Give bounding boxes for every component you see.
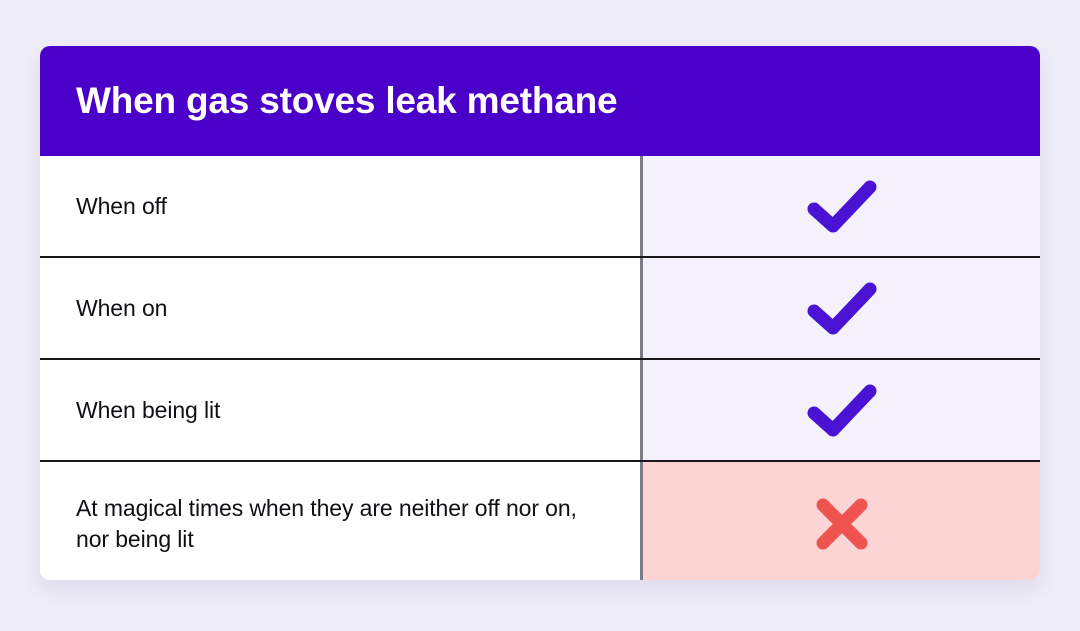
table-row: When off xyxy=(40,156,1040,256)
row-label-cell: When on xyxy=(40,258,643,358)
check-icon xyxy=(806,382,878,438)
row-label-cell: When off xyxy=(40,156,643,256)
table-row: When on xyxy=(40,256,1040,358)
table-row: When being lit xyxy=(40,358,1040,460)
row-status-cell xyxy=(643,462,1040,580)
check-icon xyxy=(806,280,878,336)
row-label-cell: When being lit xyxy=(40,360,643,460)
row-status-cell xyxy=(643,258,1040,358)
page-canvas: When gas stoves leak methane When off Wh… xyxy=(0,0,1080,631)
check-icon xyxy=(806,178,878,234)
row-status-cell xyxy=(643,156,1040,256)
row-label: At magical times when they are neither o… xyxy=(76,493,612,554)
row-label-cell: At magical times when they are neither o… xyxy=(40,462,643,580)
comparison-card: When gas stoves leak methane When off Wh… xyxy=(40,46,1040,580)
cross-icon xyxy=(813,495,871,553)
page-title: When gas stoves leak methane xyxy=(76,81,617,122)
row-label: When off xyxy=(76,191,167,222)
row-status-cell xyxy=(643,360,1040,460)
card-header: When gas stoves leak methane xyxy=(40,46,1040,156)
table-body: When off When on xyxy=(40,156,1040,580)
row-label: When on xyxy=(76,293,167,324)
table-row: At magical times when they are neither o… xyxy=(40,460,1040,580)
row-label: When being lit xyxy=(76,395,220,426)
